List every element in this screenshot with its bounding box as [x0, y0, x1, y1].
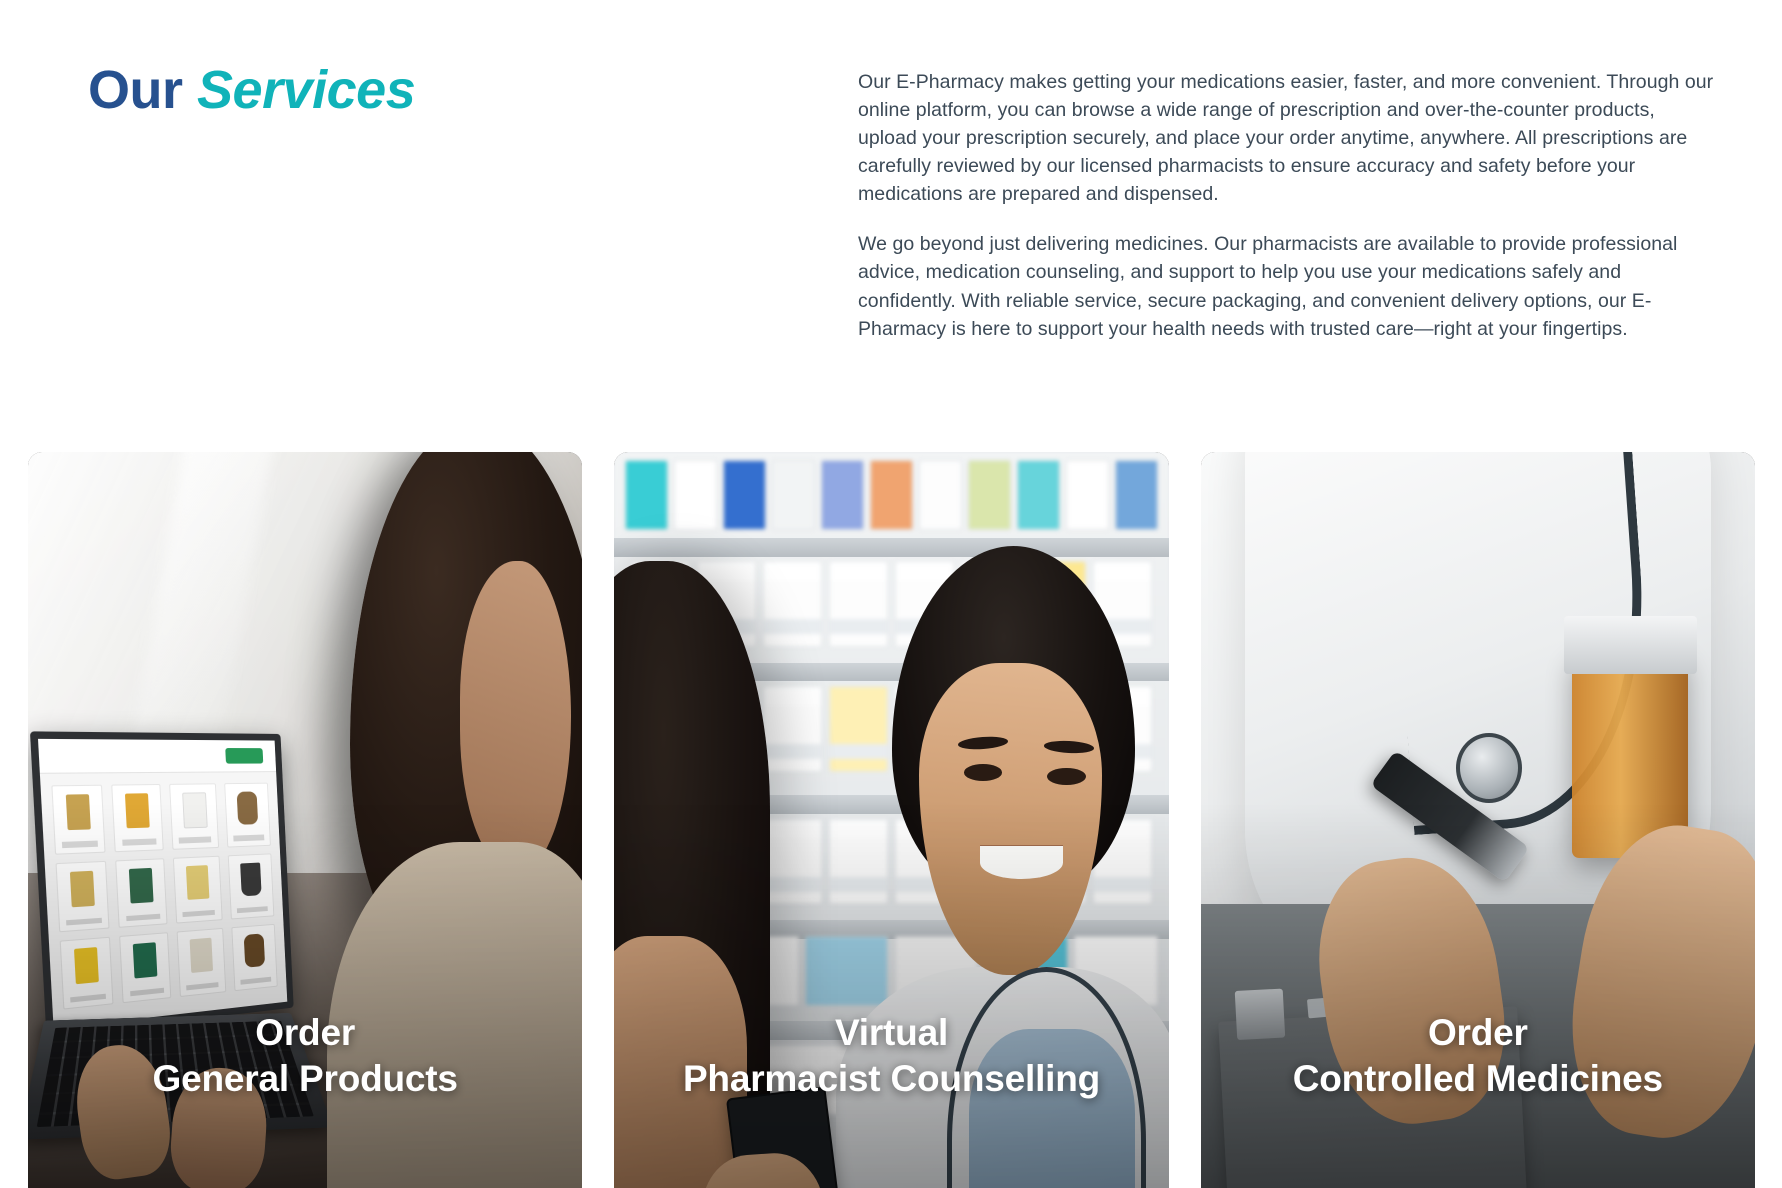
card-caption-line-2: General Products — [38, 1056, 572, 1102]
card-caption-line-2: Controlled Medicines — [1211, 1056, 1745, 1102]
card-gradient-overlay — [1201, 803, 1755, 1188]
page-title-primary: Our — [88, 60, 183, 120]
card-caption-line-1: Virtual — [624, 1010, 1158, 1056]
service-card-order-controlled-medicines[interactable]: Order Controlled Medicines — [1201, 452, 1755, 1188]
service-card-order-general-products[interactable]: Order General Products — [28, 452, 582, 1188]
card-caption-line-2: Pharmacist Counselling — [624, 1056, 1158, 1102]
page-title: Our Services — [88, 62, 415, 119]
card-caption-virtual-counselling: Virtual Pharmacist Counselling — [614, 1010, 1168, 1102]
services-page: Our Services Our E-Pharmacy makes gettin… — [0, 0, 1782, 1188]
services-header: Our Services Our E-Pharmacy makes gettin… — [0, 0, 1782, 400]
card-caption-line-1: Order — [1211, 1010, 1745, 1056]
intro-text-block: Our E-Pharmacy makes getting your medica… — [858, 68, 1716, 343]
card-caption-controlled-medicines: Order Controlled Medicines — [1201, 1010, 1755, 1102]
card-gradient-overlay — [614, 803, 1168, 1188]
service-card-grid: Order General Products — [28, 452, 1755, 1188]
card-gradient-overlay — [28, 803, 582, 1188]
card-caption-line-1: Order — [38, 1010, 572, 1056]
card-caption-general-products: Order General Products — [28, 1010, 582, 1102]
page-title-accent: Services — [197, 60, 415, 120]
intro-paragraph-2: We go beyond just delivering medicines. … — [858, 230, 1716, 342]
intro-paragraph-1: Our E-Pharmacy makes getting your medica… — [858, 68, 1716, 208]
service-card-virtual-pharmacist-counselling[interactable]: Virtual Pharmacist Counselling — [614, 452, 1168, 1188]
